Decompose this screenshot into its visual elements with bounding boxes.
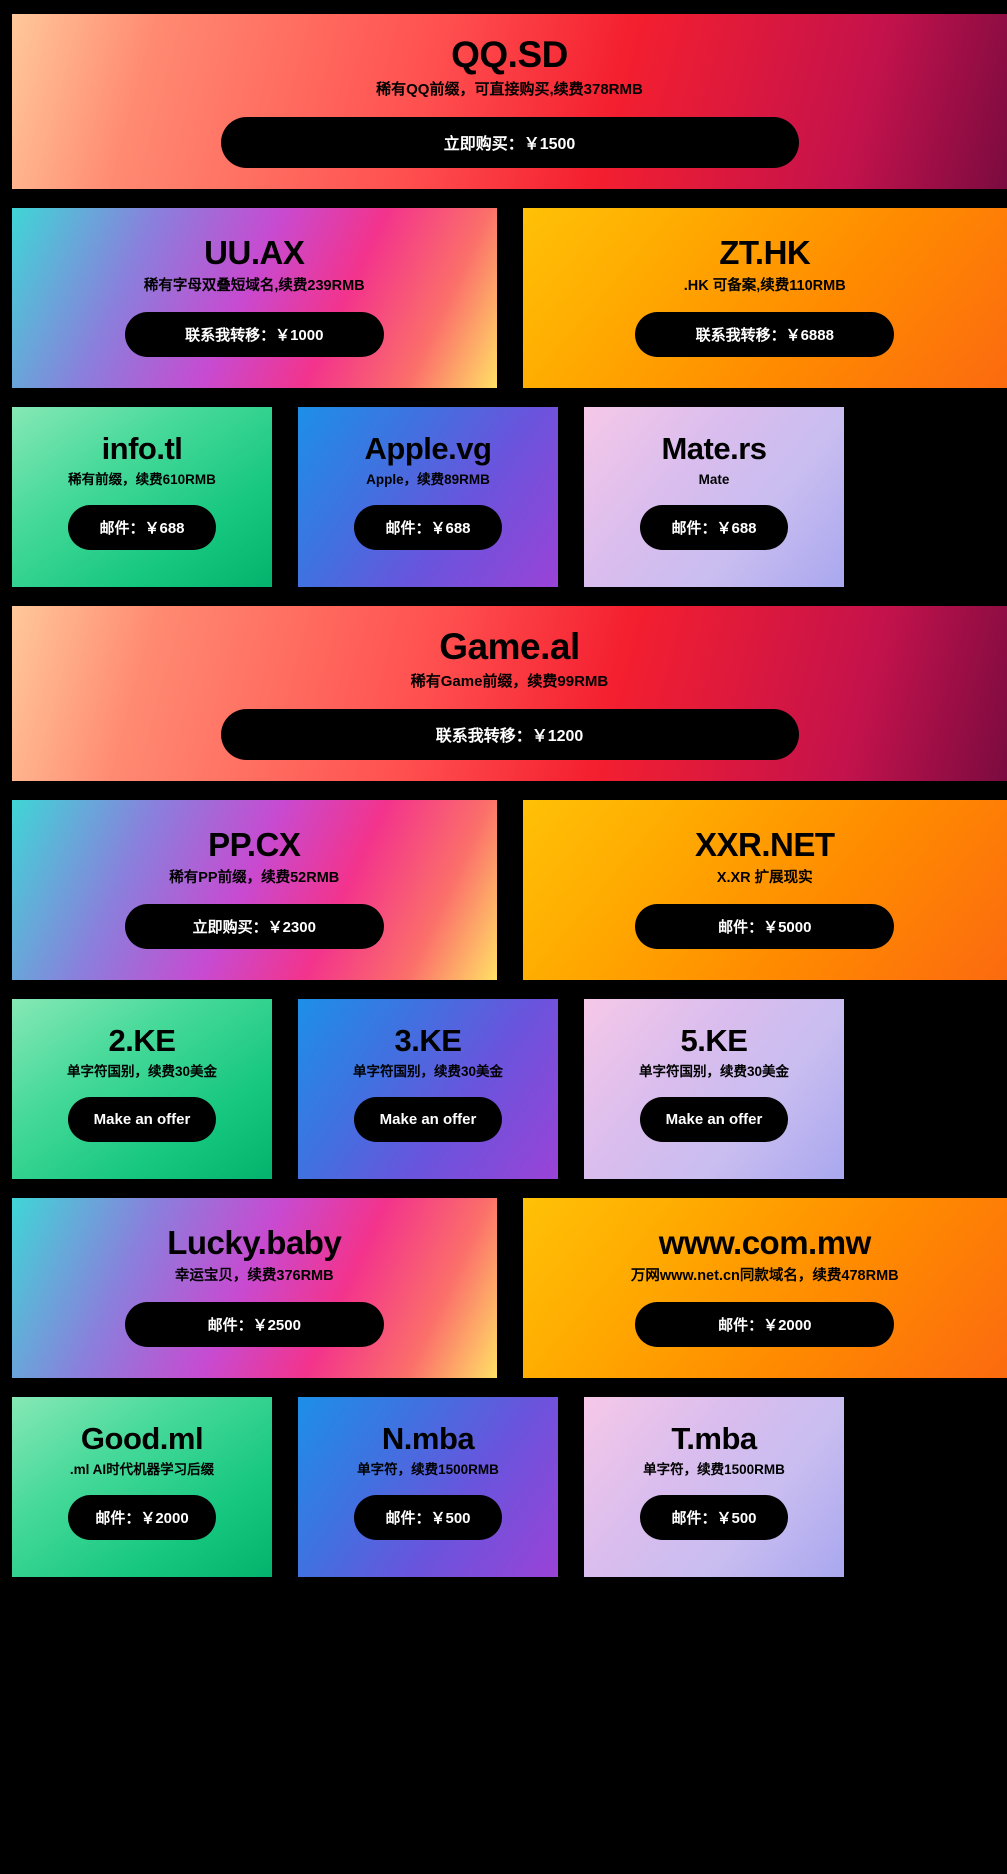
- domain-listing-grid: QQ.SD稀有QQ前缀，可直接购买,续费378RMB立即购买：￥1500UU.A…: [0, 0, 1007, 1577]
- domain-subtitle: 单字符国别，续费30美金: [353, 1064, 503, 1080]
- domain-action-button[interactable]: Make an offer: [640, 1097, 788, 1142]
- domain-subtitle: 稀有QQ前缀，可直接购买,续费378RMB: [376, 81, 643, 99]
- domain-card-www-com-mw[interactable]: www.com.mw万网www.net.cn同款域名，续费478RMB邮件：￥2…: [523, 1198, 1007, 1378]
- domain-title: 3.KE: [395, 1025, 462, 1058]
- domain-card-pp-cx[interactable]: PP.CX稀有PP前缀，续费52RMB立即购买：￥2300: [12, 800, 497, 980]
- domain-subtitle: 单字符国别，续费30美金: [67, 1064, 217, 1080]
- domain-title: 2.KE: [109, 1025, 176, 1058]
- domain-action-button[interactable]: 邮件：￥500: [640, 1495, 788, 1540]
- domain-subtitle: .HK 可备案,续费110RMB: [684, 278, 846, 295]
- domain-title: info.tl: [102, 433, 183, 466]
- domain-action-button[interactable]: 邮件：￥500: [354, 1495, 502, 1540]
- domain-action-button[interactable]: 邮件：￥5000: [635, 904, 894, 949]
- domain-title: T.mba: [671, 1423, 756, 1456]
- card-row: Good.ml.ml AI时代机器学习后缀邮件：￥2000N.mba单字符，续费…: [0, 1397, 1007, 1577]
- domain-card-mate-rs[interactable]: Mate.rsMate邮件：￥688: [584, 407, 844, 587]
- domain-subtitle: 单字符，续费1500RMB: [357, 1462, 499, 1478]
- domain-title: Game.al: [439, 628, 579, 667]
- domain-title: Mate.rs: [661, 433, 766, 466]
- domain-card-qq-sd[interactable]: QQ.SD稀有QQ前缀，可直接购买,续费378RMB立即购买：￥1500: [12, 14, 1007, 189]
- domain-subtitle: 单字符，续费1500RMB: [643, 1462, 785, 1478]
- domain-subtitle: 稀有字母双叠短域名,续费239RMB: [144, 278, 365, 295]
- domain-title: N.mba: [382, 1423, 474, 1456]
- domain-card-5-ke[interactable]: 5.KE单字符国别，续费30美金Make an offer: [584, 999, 844, 1179]
- domain-card-lucky-baby[interactable]: Lucky.baby幸运宝贝，续费376RMB邮件：￥2500: [12, 1198, 497, 1378]
- domain-action-button[interactable]: 邮件：￥2000: [68, 1495, 216, 1540]
- domain-card-uu-ax[interactable]: UU.AX稀有字母双叠短域名,续费239RMB联系我转移：￥1000: [12, 208, 497, 388]
- domain-card-n-mba[interactable]: N.mba单字符，续费1500RMB邮件：￥500: [298, 1397, 558, 1577]
- domain-subtitle: Apple，续费89RMB: [366, 472, 490, 488]
- card-row: QQ.SD稀有QQ前缀，可直接购买,续费378RMB立即购买：￥1500: [0, 14, 1007, 189]
- domain-action-button[interactable]: 邮件：￥2500: [125, 1302, 384, 1347]
- card-row: Game.al稀有Game前缀，续费99RMB联系我转移：￥1200: [0, 606, 1007, 781]
- domain-title: Lucky.baby: [167, 1226, 341, 1261]
- domain-subtitle: Mate: [699, 472, 730, 488]
- domain-subtitle: .ml AI时代机器学习后缀: [70, 1462, 214, 1478]
- domain-title: www.com.mw: [659, 1226, 871, 1261]
- card-row: UU.AX稀有字母双叠短域名,续费239RMB联系我转移：￥1000ZT.HK.…: [0, 208, 1007, 388]
- domain-card-good-ml[interactable]: Good.ml.ml AI时代机器学习后缀邮件：￥2000: [12, 1397, 272, 1577]
- domain-card-zt-hk[interactable]: ZT.HK.HK 可备案,续费110RMB联系我转移：￥6888: [523, 208, 1007, 388]
- domain-subtitle: 单字符国别，续费30美金: [639, 1064, 789, 1080]
- domain-title: 5.KE: [681, 1025, 748, 1058]
- domain-action-button[interactable]: 邮件：￥688: [354, 505, 502, 550]
- card-row: PP.CX稀有PP前缀，续费52RMB立即购买：￥2300XXR.NETX.XR…: [0, 800, 1007, 980]
- domain-action-button[interactable]: 联系我转移：￥6888: [635, 312, 894, 357]
- domain-action-button[interactable]: 邮件：￥2000: [635, 1302, 894, 1347]
- card-row: Lucky.baby幸运宝贝，续费376RMB邮件：￥2500www.com.m…: [0, 1198, 1007, 1378]
- domain-action-button[interactable]: 联系我转移：￥1000: [125, 312, 384, 357]
- domain-action-button[interactable]: 联系我转移：￥1200: [221, 709, 799, 760]
- domain-card-apple-vg[interactable]: Apple.vgApple，续费89RMB邮件：￥688: [298, 407, 558, 587]
- card-row: info.tl稀有前缀，续费610RMB邮件：￥688Apple.vgApple…: [0, 407, 1007, 587]
- domain-title: ZT.HK: [719, 236, 810, 271]
- domain-action-button[interactable]: 邮件：￥688: [640, 505, 788, 550]
- domain-action-button[interactable]: 立即购买：￥2300: [125, 904, 384, 949]
- domain-title: Apple.vg: [365, 433, 492, 466]
- domain-action-button[interactable]: 邮件：￥688: [68, 505, 216, 550]
- domain-card-2-ke[interactable]: 2.KE单字符国别，续费30美金Make an offer: [12, 999, 272, 1179]
- domain-action-button[interactable]: Make an offer: [354, 1097, 502, 1142]
- card-row: 2.KE单字符国别，续费30美金Make an offer3.KE单字符国别，续…: [0, 999, 1007, 1179]
- domain-subtitle: 稀有PP前缀，续费52RMB: [169, 870, 339, 887]
- domain-card-3-ke[interactable]: 3.KE单字符国别，续费30美金Make an offer: [298, 999, 558, 1179]
- domain-card-xxr-net[interactable]: XXR.NETX.XR 扩展现实邮件：￥5000: [523, 800, 1007, 980]
- domain-subtitle: 万网www.net.cn同款域名，续费478RMB: [631, 1268, 899, 1285]
- domain-title: Good.ml: [81, 1423, 203, 1456]
- domain-title: XXR.NET: [695, 828, 835, 863]
- domain-title: UU.AX: [204, 236, 304, 271]
- domain-subtitle: 稀有Game前缀，续费99RMB: [411, 673, 609, 691]
- domain-subtitle: 稀有前缀，续费610RMB: [68, 472, 216, 488]
- domain-card-game-al[interactable]: Game.al稀有Game前缀，续费99RMB联系我转移：￥1200: [12, 606, 1007, 781]
- domain-action-button[interactable]: Make an offer: [68, 1097, 216, 1142]
- domain-title: PP.CX: [208, 828, 300, 863]
- domain-card-t-mba[interactable]: T.mba单字符，续费1500RMB邮件：￥500: [584, 1397, 844, 1577]
- domain-card-info-tl[interactable]: info.tl稀有前缀，续费610RMB邮件：￥688: [12, 407, 272, 587]
- domain-action-button[interactable]: 立即购买：￥1500: [221, 117, 799, 168]
- domain-subtitle: 幸运宝贝，续费376RMB: [175, 1268, 334, 1285]
- domain-subtitle: X.XR 扩展现实: [717, 870, 813, 887]
- domain-title: QQ.SD: [451, 36, 568, 75]
